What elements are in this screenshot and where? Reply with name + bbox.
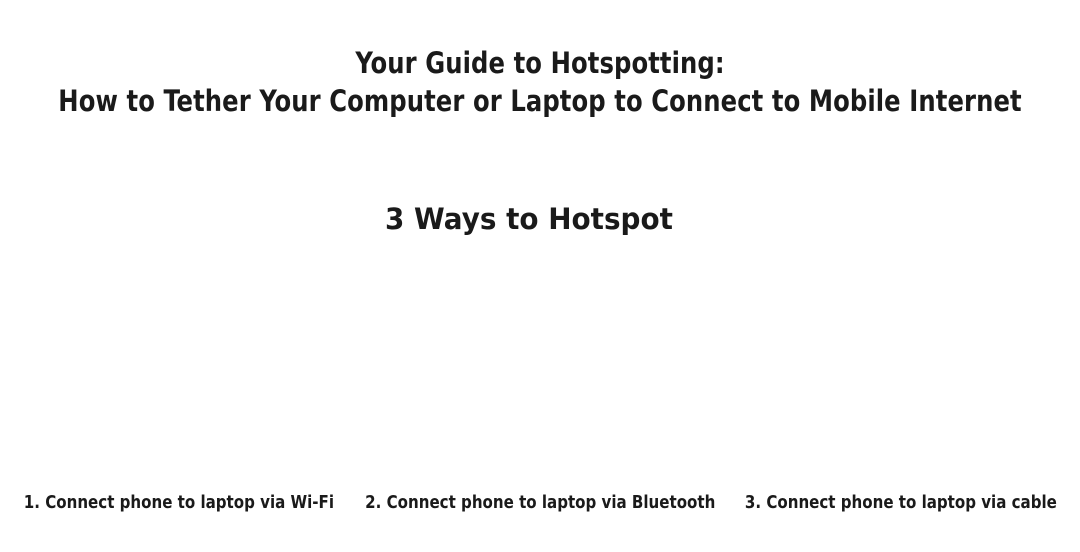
page-title: Your Guide to Hotspotting: How to Tether… <box>0 0 1080 120</box>
title-line-1: Your Guide to Hotspotting: <box>38 44 1042 82</box>
illustration-row <box>0 236 1080 492</box>
caption-row: 1. Connect phone to laptop via Wi-Fi 2. … <box>0 492 1080 552</box>
subtitle-text: 3 Ways to Hotspot <box>385 202 673 236</box>
infographic-page: Your Guide to Hotspotting: How to Tether… <box>0 0 1080 552</box>
subtitle-section: 3 Ways to Hotspot <box>0 202 1080 236</box>
title-line-2: How to Tether Your Computer or Laptop to… <box>38 82 1042 120</box>
illustration-cable <box>717 274 1072 454</box>
caption-method-3: 3. Connect phone to laptop via cable <box>740 492 1062 514</box>
caption-method-2: 2. Connect phone to laptop via Bluetooth <box>365 492 715 514</box>
caption-method-1: 1. Connect phone to laptop via Wi-Fi <box>18 492 340 514</box>
illustration-bluetooth <box>363 274 718 454</box>
illustration-wifi <box>8 274 363 454</box>
